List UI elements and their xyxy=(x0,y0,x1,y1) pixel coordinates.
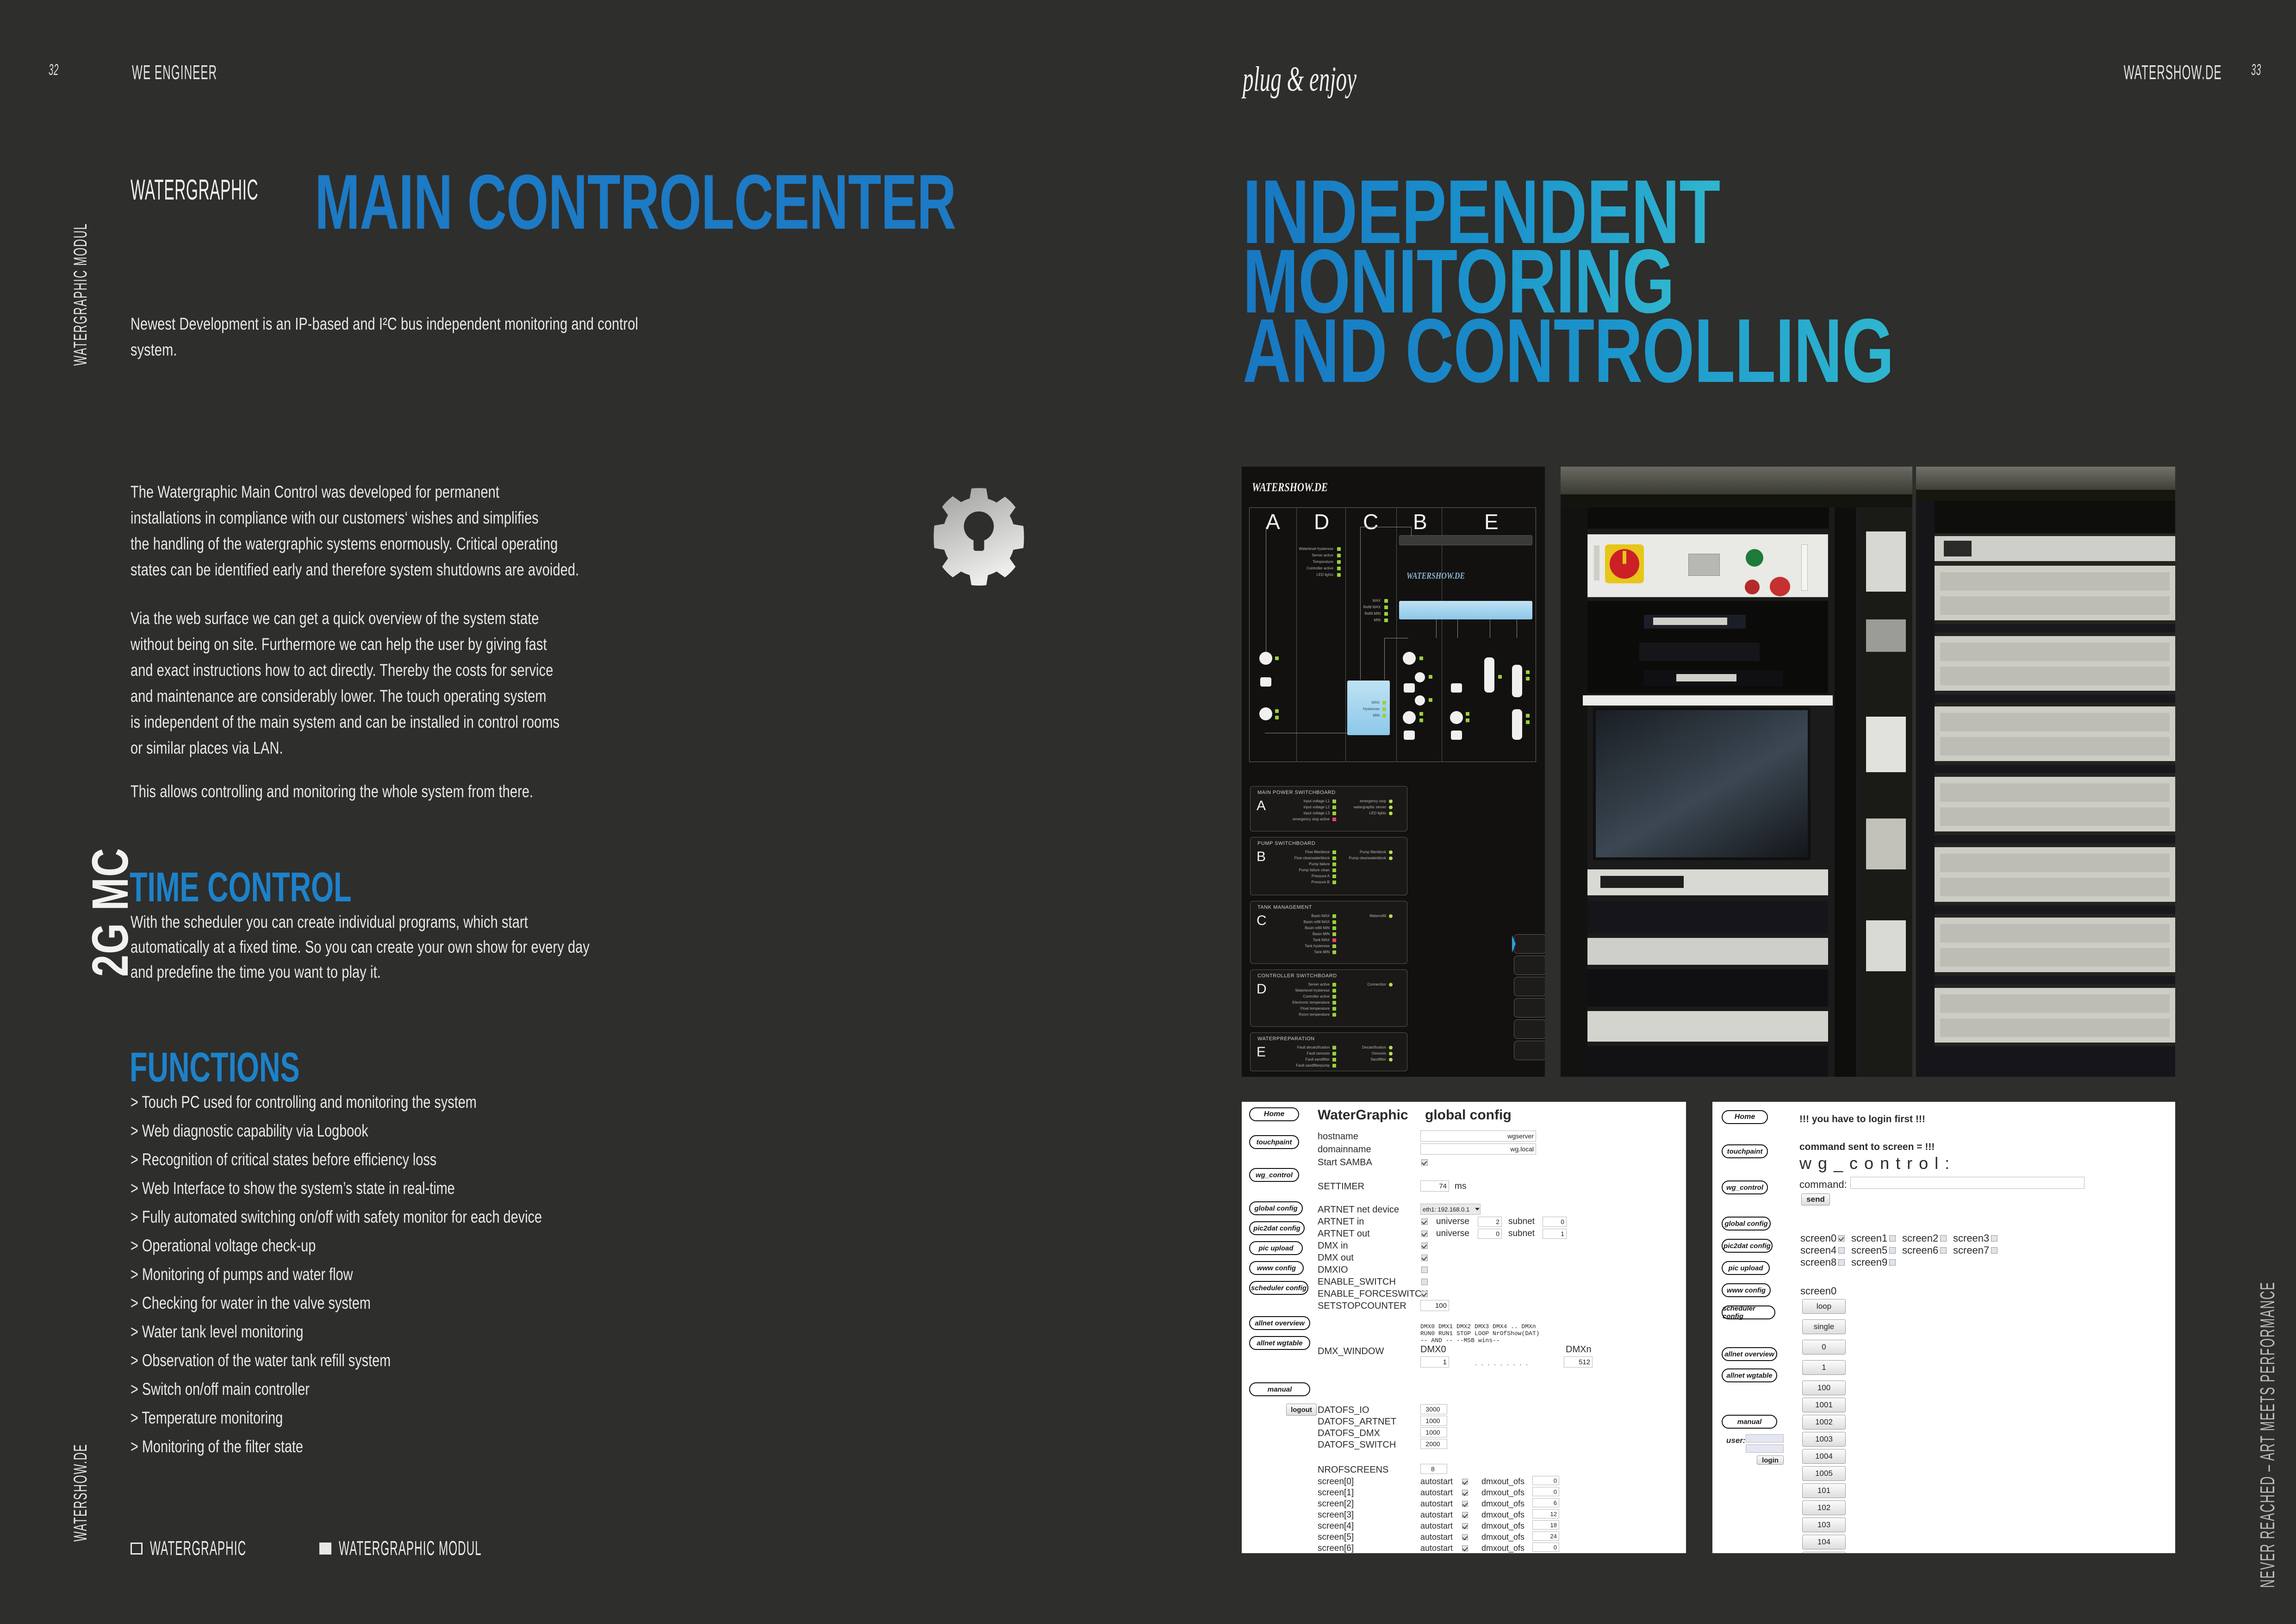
schematic-column-a: A xyxy=(1266,509,1280,534)
schematic-wire xyxy=(1360,527,1361,680)
screen-checkbox-label: screen2 xyxy=(1902,1232,1938,1244)
nav-touchpaint[interactable]: touchpaint xyxy=(1722,1144,1768,1158)
datofs-switch-input[interactable]: 2000 xyxy=(1420,1439,1447,1449)
screen-row-name: screen[0] xyxy=(1318,1477,1354,1487)
logout-button[interactable]: logout xyxy=(1286,1404,1317,1416)
action-button-103[interactable]: 103 xyxy=(1802,1518,1846,1532)
status-led xyxy=(1466,718,1469,722)
screen-checkbox-label: screen0 xyxy=(1800,1232,1836,1244)
action-button-101[interactable]: 101 xyxy=(1802,1483,1846,1498)
magazine-spread: 32 WE ENGINEER plug & enjoy WATERSHOW.DE… xyxy=(0,0,2296,1624)
list-item: > Operational voltage check-up xyxy=(131,1231,542,1260)
config-page-title: global config xyxy=(1425,1107,1512,1123)
panel-item: Flow filterblock xyxy=(1282,850,1330,854)
nav-allnet-wgtable[interactable]: allnet wgtable xyxy=(1722,1368,1777,1382)
schematic-node xyxy=(1512,709,1522,740)
dmxout-input[interactable]: 12 xyxy=(1532,1509,1559,1518)
status-led xyxy=(1332,914,1336,918)
schematic-side-box xyxy=(1514,1041,1545,1060)
enable-switch-label: ENABLE_SWITCH xyxy=(1318,1277,1396,1287)
autostart-checkbox[interactable] xyxy=(1462,1523,1468,1529)
dmx-window-dots: . . . . . . . . . xyxy=(1475,1359,1529,1367)
field-label-domainname: domainname xyxy=(1318,1144,1371,1155)
status-led xyxy=(1389,850,1393,854)
status-led-alarm xyxy=(1332,938,1336,942)
nav-www-config[interactable]: www config xyxy=(1249,1261,1304,1275)
dmx-in-checkbox[interactable] xyxy=(1421,1243,1428,1249)
screen-checkbox-label: screen8 xyxy=(1800,1256,1836,1268)
panel-item: Pressure A xyxy=(1282,874,1330,878)
panel-item: LED lights xyxy=(1341,811,1386,815)
schematic-node xyxy=(1512,665,1522,697)
schematic-status-label: LED lights xyxy=(1291,573,1333,577)
legend-watergraphic: WATERGRAPHIC xyxy=(131,1537,325,1560)
action-button-102[interactable]: 102 xyxy=(1802,1500,1846,1515)
panel-item: Pump filterblock xyxy=(1341,850,1386,854)
start-samba-checkbox[interactable] xyxy=(1421,1159,1428,1166)
schematic-node xyxy=(1404,683,1415,693)
panel-item: Flow cleanwaterblock xyxy=(1277,856,1330,860)
dmxout-input[interactable]: 0 xyxy=(1532,1543,1559,1552)
screenshot-global-config: Home touchpaint wg_control global config… xyxy=(1242,1102,1686,1553)
command-label: command: xyxy=(1799,1179,1847,1191)
list-item: > Temperature monitoring xyxy=(131,1404,542,1432)
panel-item: Fault osmosis xyxy=(1282,1051,1330,1056)
list-item: > Checking for water in the valve system xyxy=(131,1289,542,1318)
chevron-down-icon xyxy=(1475,1208,1480,1211)
schematic-status-label: Server active xyxy=(1291,553,1333,557)
dmxout-input[interactable]: 6 xyxy=(1532,1498,1559,1507)
panel-item: watergraphic server xyxy=(1341,805,1386,809)
autostart-label: autostart xyxy=(1420,1521,1453,1531)
schematic-water-bar xyxy=(1399,601,1532,619)
status-led xyxy=(1389,856,1393,860)
dmx-window-label: DMX_WINDOW xyxy=(1318,1346,1384,1357)
screen-checkbox-label: screen4 xyxy=(1800,1244,1836,1256)
schematic-node xyxy=(1415,695,1425,706)
datofs-io-label: DATOFS_IO xyxy=(1318,1405,1369,1416)
wg-control-heading: w g _ c o n t r o l : xyxy=(1799,1154,1950,1173)
time-control-body: With the scheduler you can create indivi… xyxy=(131,910,708,985)
solid-square-icon xyxy=(319,1543,331,1555)
schematic-side-box xyxy=(1514,956,1545,975)
action-button-1002[interactable]: 1002 xyxy=(1802,1415,1846,1430)
autostart-checkbox[interactable] xyxy=(1462,1512,1468,1518)
schematic-side-box xyxy=(1514,998,1545,1018)
schematic-wire xyxy=(1517,619,1517,638)
action-button-single[interactable]: single xyxy=(1802,1319,1846,1334)
nav-pic2dat-config[interactable]: pic2dat config xyxy=(1722,1239,1773,1253)
screen0-checkbox[interactable] xyxy=(1838,1235,1845,1242)
dmx-window-last-input[interactable]: 512 xyxy=(1564,1356,1593,1368)
body-paragraph-3: This allows controlling and monitoring t… xyxy=(131,779,672,805)
schematic-node xyxy=(1451,731,1462,740)
panel-letter: B xyxy=(1257,849,1266,865)
status-led xyxy=(1332,920,1336,924)
status-led xyxy=(1337,567,1341,570)
action-button-1005[interactable]: 1005 xyxy=(1802,1466,1846,1481)
panel-item: Tank hysterese xyxy=(1282,944,1330,948)
enable-forceswitch-checkbox[interactable] xyxy=(1421,1291,1428,1297)
schematic-node xyxy=(1451,683,1462,693)
nav-www-config[interactable]: www config xyxy=(1722,1283,1771,1297)
right-running-head: WATERSHOW.DE xyxy=(2124,61,2222,84)
artnet-in-subnet-label: subnet xyxy=(1508,1217,1535,1227)
nav-allnet-wgtable[interactable]: allnet wgtable xyxy=(1249,1336,1310,1350)
autostart-label: autostart xyxy=(1420,1543,1453,1553)
dmxio-checkbox[interactable] xyxy=(1421,1267,1428,1273)
status-led xyxy=(1332,989,1336,993)
panel-item: Basin refill MAX xyxy=(1282,920,1330,924)
send-button[interactable]: send xyxy=(1801,1193,1830,1206)
dmxout-label: dmxout_ofs xyxy=(1481,1499,1524,1509)
list-item: > Fully automated switching on/off with … xyxy=(131,1203,542,1231)
nav-allnet-overview[interactable]: allnet overview xyxy=(1249,1316,1310,1330)
selected-screen-label: screen0 xyxy=(1800,1285,1836,1297)
status-led xyxy=(1332,1013,1336,1017)
action-button-0[interactable]: 0 xyxy=(1802,1340,1846,1355)
screen6-checkbox[interactable] xyxy=(1940,1247,1947,1254)
status-led xyxy=(1332,1046,1336,1049)
nav-pic-upload[interactable]: pic upload xyxy=(1722,1261,1770,1275)
dmxio-label: DMXIO xyxy=(1318,1265,1348,1275)
status-led xyxy=(1332,806,1336,809)
status-led xyxy=(1382,707,1386,711)
screen1-checkbox[interactable] xyxy=(1889,1235,1896,1242)
status-led xyxy=(1389,1052,1393,1056)
artnet-in-universe-label: universe xyxy=(1436,1217,1469,1227)
status-led xyxy=(1389,806,1393,809)
password-input[interactable] xyxy=(1746,1444,1784,1453)
panel-item: input voltage L1 xyxy=(1282,799,1330,803)
datofs-artnet-input[interactable]: 1000 xyxy=(1420,1416,1447,1426)
autostart-checkbox[interactable] xyxy=(1462,1534,1468,1540)
screen5-checkbox[interactable] xyxy=(1889,1247,1896,1254)
action-button-1003[interactable]: 1003 xyxy=(1802,1432,1846,1447)
schematic-column-d: D xyxy=(1314,509,1329,534)
dmx-legend-line-2: RUN0 RUN1 STOP LOOP NrOfShow(DAT) xyxy=(1420,1330,1539,1337)
field-label-hostname: hostname xyxy=(1318,1131,1358,1142)
nav-touchpaint[interactable]: touchpaint xyxy=(1249,1135,1299,1149)
nav-pic2dat-config[interactable]: pic2dat config xyxy=(1249,1221,1305,1235)
nav-allnet-overview[interactable]: allnet overview xyxy=(1722,1347,1777,1361)
list-item: > Web diagnostic capability via Logbook xyxy=(131,1117,542,1145)
status-led xyxy=(1332,1058,1336,1062)
datofs-dmx-input[interactable]: 1000 xyxy=(1420,1427,1447,1437)
panel-item: Connection xyxy=(1348,982,1386,987)
artnet-in-subnet-input[interactable]: 0 xyxy=(1543,1217,1567,1227)
right-page-folio: 33 xyxy=(2251,61,2261,79)
schematic-column-c: C xyxy=(1363,509,1378,534)
intro-paragraph: Newest Development is an IP-based and I²… xyxy=(131,311,672,363)
nav-manual[interactable]: manual xyxy=(1249,1382,1310,1396)
status-led xyxy=(1382,701,1386,705)
status-led xyxy=(1332,881,1336,884)
dmxout-input[interactable]: 18 xyxy=(1532,1520,1559,1530)
action-button-100[interactable]: 100 xyxy=(1802,1380,1846,1395)
nav-scheduler-config[interactable]: scheduler config xyxy=(1249,1281,1308,1295)
schematic-divider xyxy=(1296,507,1297,762)
screen-row-name: screen[3] xyxy=(1318,1510,1354,1520)
screen2-checkbox[interactable] xyxy=(1940,1235,1947,1242)
login-warning: !!! you have to login first !!! xyxy=(1799,1114,1925,1125)
schematic-grid xyxy=(1249,507,1536,762)
panel-item: Basin MIN xyxy=(1282,932,1330,936)
artnet-device-label: ARTNET net device xyxy=(1318,1205,1399,1215)
enable-forceswitch-label: ENABLE_FORCESWITCH xyxy=(1318,1289,1428,1299)
action-button-1001[interactable]: 1001 xyxy=(1802,1398,1846,1412)
action-button-1[interactable]: 1 xyxy=(1802,1360,1846,1375)
schematic-status-label: Refill MIN xyxy=(1352,612,1381,616)
screen8-checkbox[interactable] xyxy=(1838,1259,1845,1266)
schematic-node xyxy=(1403,711,1416,724)
action-button-1004[interactable]: 1004 xyxy=(1802,1449,1846,1464)
panel-item: Decalcification xyxy=(1343,1045,1386,1049)
list-item: > Monitoring of pumps and water flow xyxy=(131,1260,542,1289)
schematic-divider xyxy=(1442,507,1442,762)
schematic-node xyxy=(1259,707,1272,720)
status-led xyxy=(1332,856,1336,860)
status-led xyxy=(1337,573,1341,577)
dmxout-label: dmxout_ofs xyxy=(1481,1477,1524,1487)
panel-title: CONTROLLER SWITCHBOARD xyxy=(1257,973,1337,979)
plug-and-enjoy-script: plug & enjoy xyxy=(1243,59,1356,100)
artnet-out-subnet-input[interactable]: 1 xyxy=(1543,1229,1567,1239)
panel-title: PUMP SWITCHBOARD xyxy=(1257,841,1315,846)
panel-item: Waterlevel hysterese xyxy=(1277,988,1330,993)
action-button-2001[interactable]: 2001 xyxy=(1802,1552,1846,1553)
artnet-out-checkbox[interactable] xyxy=(1421,1230,1428,1237)
schematic-status-label: Controller active xyxy=(1291,566,1333,570)
tank-label: MAX xyxy=(1357,700,1380,705)
status-led xyxy=(1337,547,1341,551)
status-led xyxy=(1389,812,1393,815)
schematic-side-box xyxy=(1514,934,1545,954)
schematic-status-label: MIN xyxy=(1352,618,1381,622)
status-led xyxy=(1466,712,1469,716)
dmx-out-checkbox[interactable] xyxy=(1421,1255,1428,1261)
artnet-out-label: ARTNET out xyxy=(1318,1229,1370,1239)
panel-letter: A xyxy=(1257,798,1266,814)
panel-item: Osmosis xyxy=(1343,1051,1386,1056)
dmxout-label: dmxout_ofs xyxy=(1481,1521,1524,1531)
dmx-window-first-input[interactable]: 1 xyxy=(1420,1356,1449,1368)
autostart-checkbox[interactable] xyxy=(1462,1490,1468,1496)
screen-checkbox-label: screen3 xyxy=(1953,1232,1989,1244)
dmxout-input[interactable]: 0 xyxy=(1532,1487,1559,1496)
datofs-switch-label: DATOFS_SWITCH xyxy=(1318,1440,1396,1450)
nav-home[interactable]: Home xyxy=(1249,1107,1299,1121)
panel-letter: E xyxy=(1257,1044,1266,1060)
artnet-in-checkbox[interactable] xyxy=(1421,1218,1428,1225)
artnet-in-universe-input[interactable]: 2 xyxy=(1478,1217,1502,1227)
field-label-start-samba: Start SAMBA xyxy=(1318,1157,1372,1168)
autostart-checkbox[interactable] xyxy=(1462,1501,1468,1507)
panel-item: Sandfilter xyxy=(1343,1057,1386,1062)
panel-item: input voltage L2 xyxy=(1282,805,1330,809)
body-paragraph-2: Via the web surface we can get a quick o… xyxy=(131,606,672,761)
command-input[interactable] xyxy=(1850,1177,2084,1189)
functions-list: > Touch PC used for controlling and moni… xyxy=(131,1088,542,1461)
schematic-node xyxy=(1450,711,1463,724)
autostart-label: autostart xyxy=(1420,1488,1453,1498)
schematic-status-label: MAX xyxy=(1352,599,1381,603)
screen-row-name: screen[5] xyxy=(1318,1532,1354,1543)
dmx-in-label: DMX in xyxy=(1318,1241,1348,1251)
list-item: > Switch on/off main controller xyxy=(131,1375,542,1404)
panel-item: Tank MAX xyxy=(1282,938,1330,942)
status-led xyxy=(1419,656,1423,660)
status-led xyxy=(1389,983,1393,987)
status-led-alarm xyxy=(1332,818,1336,821)
action-button-loop[interactable]: loop xyxy=(1802,1299,1846,1314)
dmxout-input[interactable]: 24 xyxy=(1532,1531,1559,1541)
dmx-window-first-header: DMX0 xyxy=(1420,1344,1446,1355)
side-label-watershow: WATERSHOW.DE xyxy=(70,1443,91,1542)
status-led xyxy=(1384,599,1388,603)
panel-letter: D xyxy=(1257,981,1267,997)
schematic-node xyxy=(1403,652,1416,665)
panel-item: Fault sandfilter xyxy=(1282,1057,1330,1062)
user-label: user: xyxy=(1726,1436,1746,1445)
schematic-status-label: Refill MAX xyxy=(1352,605,1381,609)
settimer-label: SETTIMER xyxy=(1318,1181,1364,1192)
artnet-out-universe-input[interactable]: 0 xyxy=(1478,1229,1502,1239)
schematic-divider xyxy=(1345,507,1346,762)
legend-label: WATERGRAPHIC xyxy=(150,1537,246,1560)
schematic-node xyxy=(1259,652,1272,665)
datofs-artnet-label: DATOFS_ARTNET xyxy=(1318,1417,1396,1427)
nav-scheduler-config[interactable]: scheduler config xyxy=(1722,1305,1775,1319)
right-headline-line-3: AND CONTROLLING xyxy=(1243,299,1894,403)
artnet-out-universe-label: universe xyxy=(1436,1229,1469,1239)
section-title-functions: FUNCTIONS xyxy=(130,1044,299,1092)
setstopcounter-input[interactable]: 100 xyxy=(1420,1300,1449,1311)
status-led xyxy=(1429,675,1432,679)
panel-item: Basin refill MIN xyxy=(1282,926,1330,930)
panel-item: Pump failure clean xyxy=(1277,868,1330,872)
nav-global-config[interactable]: global config xyxy=(1249,1201,1303,1215)
login-button[interactable]: login xyxy=(1757,1455,1784,1465)
left-page-folio: 32 xyxy=(49,61,59,79)
status-led xyxy=(1382,714,1386,718)
panel-item: Room temperature xyxy=(1282,1012,1330,1017)
screen4-checkbox[interactable] xyxy=(1838,1247,1845,1254)
schematic-wire xyxy=(1360,527,1411,527)
action-button-104[interactable]: 104 xyxy=(1802,1535,1846,1549)
nav-manual[interactable]: manual xyxy=(1722,1415,1777,1429)
rack-front-photo xyxy=(1561,467,1912,1077)
status-led xyxy=(1389,800,1393,803)
hostname-input[interactable]: wgserver xyxy=(1420,1131,1536,1142)
status-led xyxy=(1332,1001,1336,1005)
artnet-in-label: ARTNET in xyxy=(1318,1217,1364,1227)
schematic-wire xyxy=(1384,638,1408,638)
panel-item: Fault sandfilterpump xyxy=(1277,1063,1330,1068)
nav-global-config[interactable]: global config xyxy=(1722,1217,1771,1230)
nav-wg-control[interactable]: wg_control xyxy=(1249,1168,1299,1182)
autostart-label: autostart xyxy=(1420,1499,1453,1509)
nav-home[interactable]: Home xyxy=(1722,1110,1768,1124)
screen-checkbox-label: screen5 xyxy=(1851,1244,1887,1256)
page-title: MAIN CONTROLCENTER xyxy=(315,157,956,247)
section-title-time-control: TIME CONTROL xyxy=(130,864,351,912)
screen3-checkbox[interactable] xyxy=(1991,1235,1997,1242)
panel-title: TANK MANAGEMENT xyxy=(1257,905,1312,910)
panel-item: Float temperature xyxy=(1282,1006,1330,1011)
status-led xyxy=(1332,812,1336,815)
enable-switch-checkbox[interactable] xyxy=(1421,1279,1428,1285)
status-led xyxy=(1332,862,1336,866)
schematic-wire xyxy=(1436,619,1437,638)
status-led xyxy=(1332,995,1336,999)
screen-row-name: screen[6] xyxy=(1318,1543,1354,1553)
status-led xyxy=(1419,718,1423,722)
schematic-wire xyxy=(1490,619,1490,638)
status-led xyxy=(1337,554,1341,557)
datofs-io-input[interactable]: 3000 xyxy=(1420,1404,1447,1414)
panel-item: emergency stop active xyxy=(1277,817,1330,821)
status-led xyxy=(1275,709,1279,713)
schematic-divider xyxy=(1396,507,1397,762)
screen-checkbox-label: screen7 xyxy=(1953,1244,1989,1256)
panel-item: Waterrefill xyxy=(1348,914,1386,918)
nav-wg-control[interactable]: wg_control xyxy=(1722,1181,1768,1194)
status-led xyxy=(1498,675,1502,679)
autostart-label: autostart xyxy=(1420,1477,1453,1487)
app-title: WaterGraphic xyxy=(1318,1107,1408,1123)
autostart-checkbox[interactable] xyxy=(1462,1545,1468,1551)
list-item: > Observation of the water tank refill s… xyxy=(131,1346,542,1375)
status-led xyxy=(1332,1007,1336,1011)
settimer-input[interactable]: 74 xyxy=(1420,1181,1449,1192)
domainname-input[interactable]: wg.local xyxy=(1420,1143,1536,1155)
body-paragraph-1: The Watergraphic Main Control was develo… xyxy=(131,479,672,583)
autostart-checkbox[interactable] xyxy=(1462,1479,1468,1485)
autostart-label: autostart xyxy=(1420,1510,1453,1520)
panel-item: Controller active xyxy=(1282,994,1330,999)
status-led xyxy=(1332,944,1336,948)
schematic-brand-overlay: WATERSHOW.DE xyxy=(1406,571,1465,581)
side-label-watergraphic-modul: WATERGRAPHIC MODUL xyxy=(70,223,91,366)
status-led xyxy=(1332,983,1336,987)
schematic-logo: WATERSHOW.DE xyxy=(1252,481,1328,494)
nav-pic-upload[interactable]: pic upload xyxy=(1249,1241,1303,1255)
status-led xyxy=(1332,1064,1336,1068)
rack-patch-photo xyxy=(1916,467,2175,1077)
status-led xyxy=(1526,670,1530,674)
schematic-node xyxy=(1484,657,1494,693)
panel-letter: C xyxy=(1257,913,1267,929)
screen7-checkbox[interactable] xyxy=(1991,1247,1997,1254)
left-running-head: WE ENGINEER xyxy=(132,61,217,84)
screen9-checkbox[interactable] xyxy=(1889,1259,1896,1266)
artnet-device-select[interactable]: eth1: 192.168.0.1 xyxy=(1420,1204,1481,1215)
panel-item: emergency stop xyxy=(1341,799,1386,803)
command-sent-status: command sent to screen = !!! xyxy=(1799,1142,1935,1153)
dmxout-input[interactable]: 0 xyxy=(1532,1476,1559,1485)
screen-row-name: screen[4] xyxy=(1318,1521,1354,1531)
dmxout-label: dmxout_ofs xyxy=(1481,1543,1524,1553)
user-input[interactable] xyxy=(1746,1434,1784,1443)
schematic-status-label: Waterlevel hysterese xyxy=(1291,547,1333,551)
status-led xyxy=(1389,914,1393,918)
panel-item: Pressure B xyxy=(1282,880,1330,884)
status-led xyxy=(1526,714,1530,718)
status-led xyxy=(1332,950,1336,954)
nrofscreens-input[interactable]: 8 xyxy=(1420,1464,1447,1474)
panel-item: Pump cleanwaterblock xyxy=(1337,856,1386,860)
